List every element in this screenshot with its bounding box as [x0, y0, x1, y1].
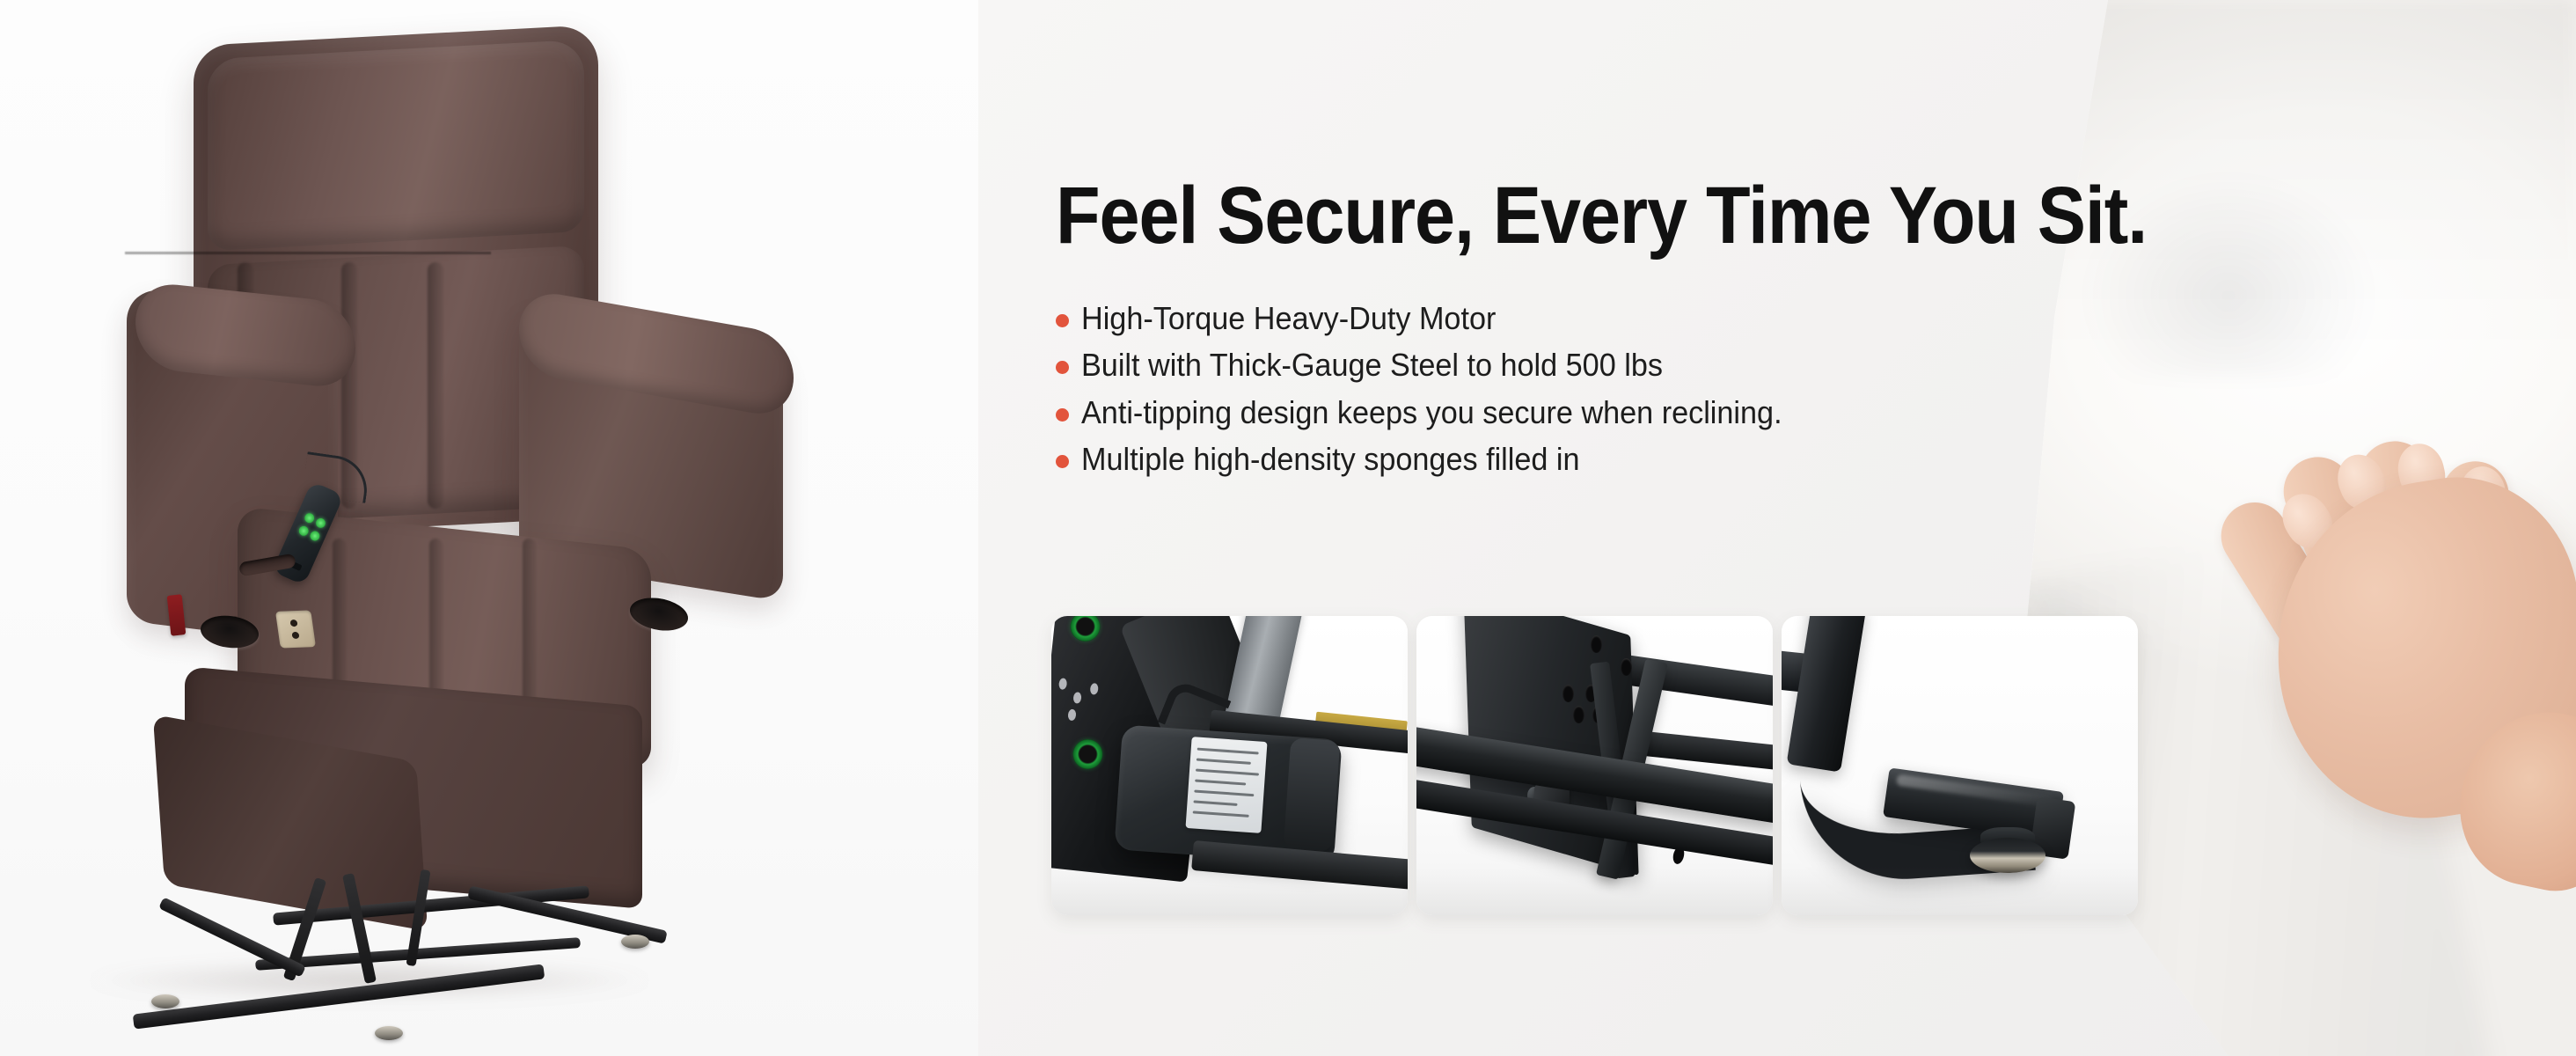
remote-button-up-icon — [303, 511, 316, 524]
hand-pressing-foam — [2171, 218, 2576, 834]
remote-button-recline-icon — [297, 524, 311, 538]
base-rail-front — [133, 964, 545, 1029]
page-title: Feel Secure, Every Time You Sit. — [1056, 174, 2147, 259]
leveling-foot — [151, 994, 179, 1008]
bullet-dot-icon — [1056, 361, 1069, 374]
card-background — [1051, 616, 1408, 915]
label-text-line — [1195, 779, 1246, 785]
chair-steel-base — [123, 854, 669, 1056]
detail-card-anti-tip-leg[interactable] — [1782, 616, 2138, 915]
label-text-line — [1197, 748, 1259, 755]
plate-hole — [1562, 685, 1574, 702]
remote-button-lift-icon — [309, 530, 322, 543]
list-item: Built with Thick-Gauge Steel to hold 500… — [1056, 348, 2094, 383]
plate-hole — [1573, 706, 1584, 723]
frame-hole — [1072, 692, 1081, 704]
detail-thumbnail-row — [1051, 616, 2138, 915]
leveling-foot — [375, 1026, 403, 1040]
feature-text: Multiple high-density sponges filled in — [1081, 442, 1580, 477]
plate-hole — [1591, 635, 1602, 653]
label-text-line — [1197, 759, 1251, 765]
base-strut — [342, 873, 377, 984]
green-bushing-icon — [1072, 737, 1104, 770]
feature-list: High-Torque Heavy-Duty Motor Built with … — [1056, 301, 2094, 488]
detail-card-motor[interactable] — [1051, 616, 1408, 915]
label-text-line — [1196, 769, 1259, 776]
card-floor-shadow — [1782, 866, 2138, 915]
card-floor-shadow — [1416, 866, 1773, 915]
frame-hole — [1090, 683, 1099, 695]
power-socket-hole — [289, 620, 297, 627]
list-item: Anti-tipping design keeps you secure whe… — [1056, 395, 2094, 430]
label-text-line — [1193, 810, 1249, 817]
detail-card-steel-bracket[interactable] — [1416, 616, 1773, 915]
feature-text: High-Torque Heavy-Duty Motor — [1081, 301, 1496, 336]
label-text-line — [1194, 789, 1254, 796]
base-rail-left — [158, 897, 306, 977]
backrest-channel — [428, 262, 443, 509]
green-bushing-icon — [1069, 616, 1101, 643]
plate-hole — [1621, 658, 1632, 676]
frame-hole — [1067, 708, 1076, 721]
remote-button-down-icon — [314, 517, 327, 530]
card-background — [1782, 616, 2138, 915]
feature-text: Built with Thick-Gauge Steel to hold 500… — [1081, 348, 1663, 383]
frame-hole — [1058, 678, 1067, 690]
bullet-dot-icon — [1056, 455, 1069, 468]
motor-spec-label — [1185, 737, 1267, 833]
card-floor-shadow — [1051, 866, 1408, 915]
list-item: Multiple high-density sponges filled in — [1056, 442, 2094, 477]
leveling-foot — [621, 935, 649, 949]
backrest-seam — [125, 252, 491, 254]
label-text-line — [1193, 800, 1237, 805]
recliner-chair-image — [106, 35, 880, 1038]
list-item: High-Torque Heavy-Duty Motor — [1056, 301, 2094, 336]
feature-text: Anti-tipping design keeps you secure whe… — [1081, 395, 1782, 430]
motor-end-cap — [1284, 737, 1341, 852]
bullet-dot-icon — [1056, 314, 1069, 327]
power-socket-plate — [275, 611, 316, 649]
product-photo-stage — [0, 0, 978, 1056]
card-background — [1416, 616, 1773, 915]
product-feature-banner: Feel Secure, Every Time You Sit. High-To… — [0, 0, 2576, 1056]
bullet-dot-icon — [1056, 408, 1069, 422]
power-socket-hole — [291, 632, 299, 639]
chair-headrest — [208, 40, 584, 251]
